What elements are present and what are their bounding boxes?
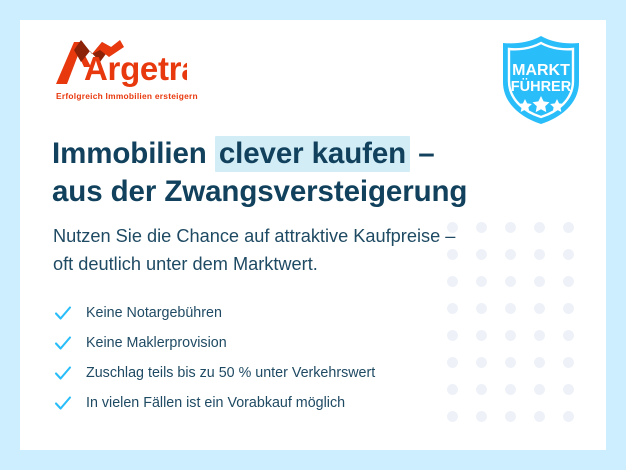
grid-dot — [476, 249, 487, 260]
grid-dot — [563, 357, 574, 368]
grid-dot — [447, 330, 458, 341]
grid-dot — [476, 357, 487, 368]
market-leader-badge: MARKT FÜHRER — [498, 34, 584, 126]
grid-dot — [563, 222, 574, 233]
grid-dot — [505, 276, 516, 287]
list-item: Keine Notargebühren — [53, 298, 375, 328]
grid-dot — [505, 384, 516, 395]
subheadline-line1: Nutzen Sie die Chance auf attraktive Kau… — [53, 226, 455, 246]
argetra-logo-mark: Argetra — [54, 38, 187, 90]
grid-dot — [534, 411, 545, 422]
grid-dot — [505, 411, 516, 422]
grid-dot — [447, 384, 458, 395]
headline-line1-pre: Immobilien — [52, 137, 215, 170]
headline-line2: aus der Zwangsversteigerung — [52, 175, 467, 208]
grid-dot — [476, 384, 487, 395]
headline-highlight: clever kaufen — [215, 136, 410, 172]
benefit-label: Keine Notargebühren — [86, 306, 222, 320]
headline-line1-post: – — [410, 137, 434, 170]
grid-dot — [476, 411, 487, 422]
grid-dot — [447, 411, 458, 422]
banner-frame: Argetra Erfolgreich Immobilien ersteiger… — [0, 0, 626, 470]
list-item: Keine Maklerprovision — [53, 328, 375, 358]
grid-dot — [534, 276, 545, 287]
grid-dot — [505, 222, 516, 233]
subheadline: Nutzen Sie die Chance auf attraktive Kau… — [53, 223, 455, 278]
grid-dot — [534, 330, 545, 341]
grid-dot — [476, 303, 487, 314]
grid-dot — [447, 357, 458, 368]
grid-dot — [476, 222, 487, 233]
grid-dot — [563, 249, 574, 260]
headline-line1: Immobilien clever kaufen – — [52, 136, 435, 172]
check-icon — [53, 363, 73, 383]
list-item: Zuschlag teils bis zu 50 % unter Verkehr… — [53, 358, 375, 388]
grid-dot — [476, 330, 487, 341]
benefit-label: In vielen Fällen ist ein Vorabkauf mögli… — [86, 396, 345, 410]
benefit-label: Zuschlag teils bis zu 50 % unter Verkehr… — [86, 366, 375, 380]
grid-dot — [534, 384, 545, 395]
grid-dot — [563, 303, 574, 314]
grid-dot — [563, 411, 574, 422]
shield-badge-icon: MARKT FÜHRER — [498, 34, 584, 126]
grid-dot — [447, 303, 458, 314]
dot-grid-decoration — [447, 222, 592, 438]
check-icon — [53, 393, 73, 413]
grid-dot — [563, 384, 574, 395]
check-icon — [53, 303, 73, 323]
benefits-list: Keine Notargebühren Keine Maklerprovisio… — [53, 298, 375, 418]
grid-dot — [534, 357, 545, 368]
grid-dot — [534, 249, 545, 260]
check-icon — [53, 333, 73, 353]
subheadline-line2: oft deutlich unter dem Marktwert. — [53, 254, 318, 274]
badge-line1: MARKT — [512, 62, 570, 79]
grid-dot — [534, 303, 545, 314]
grid-dot — [534, 222, 545, 233]
grid-dot — [563, 330, 574, 341]
grid-dot — [505, 357, 516, 368]
svg-text:Argetra: Argetra — [84, 50, 187, 87]
grid-dot — [505, 303, 516, 314]
banner-canvas: Argetra Erfolgreich Immobilien ersteiger… — [20, 20, 606, 450]
list-item: In vielen Fällen ist ein Vorabkauf mögli… — [53, 388, 375, 418]
grid-dot — [563, 276, 574, 287]
grid-dot — [505, 330, 516, 341]
badge-line2: FÜHRER — [511, 78, 572, 95]
grid-dot — [476, 276, 487, 287]
benefit-label: Keine Maklerprovision — [86, 336, 227, 350]
page-title: Immobilien clever kaufen – aus der Zwang… — [52, 135, 467, 211]
grid-dot — [505, 249, 516, 260]
logo-tagline: Erfolgreich Immobilien ersteigern — [56, 91, 198, 101]
argetra-logo[interactable]: Argetra Erfolgreich Immobilien ersteiger… — [54, 38, 198, 101]
